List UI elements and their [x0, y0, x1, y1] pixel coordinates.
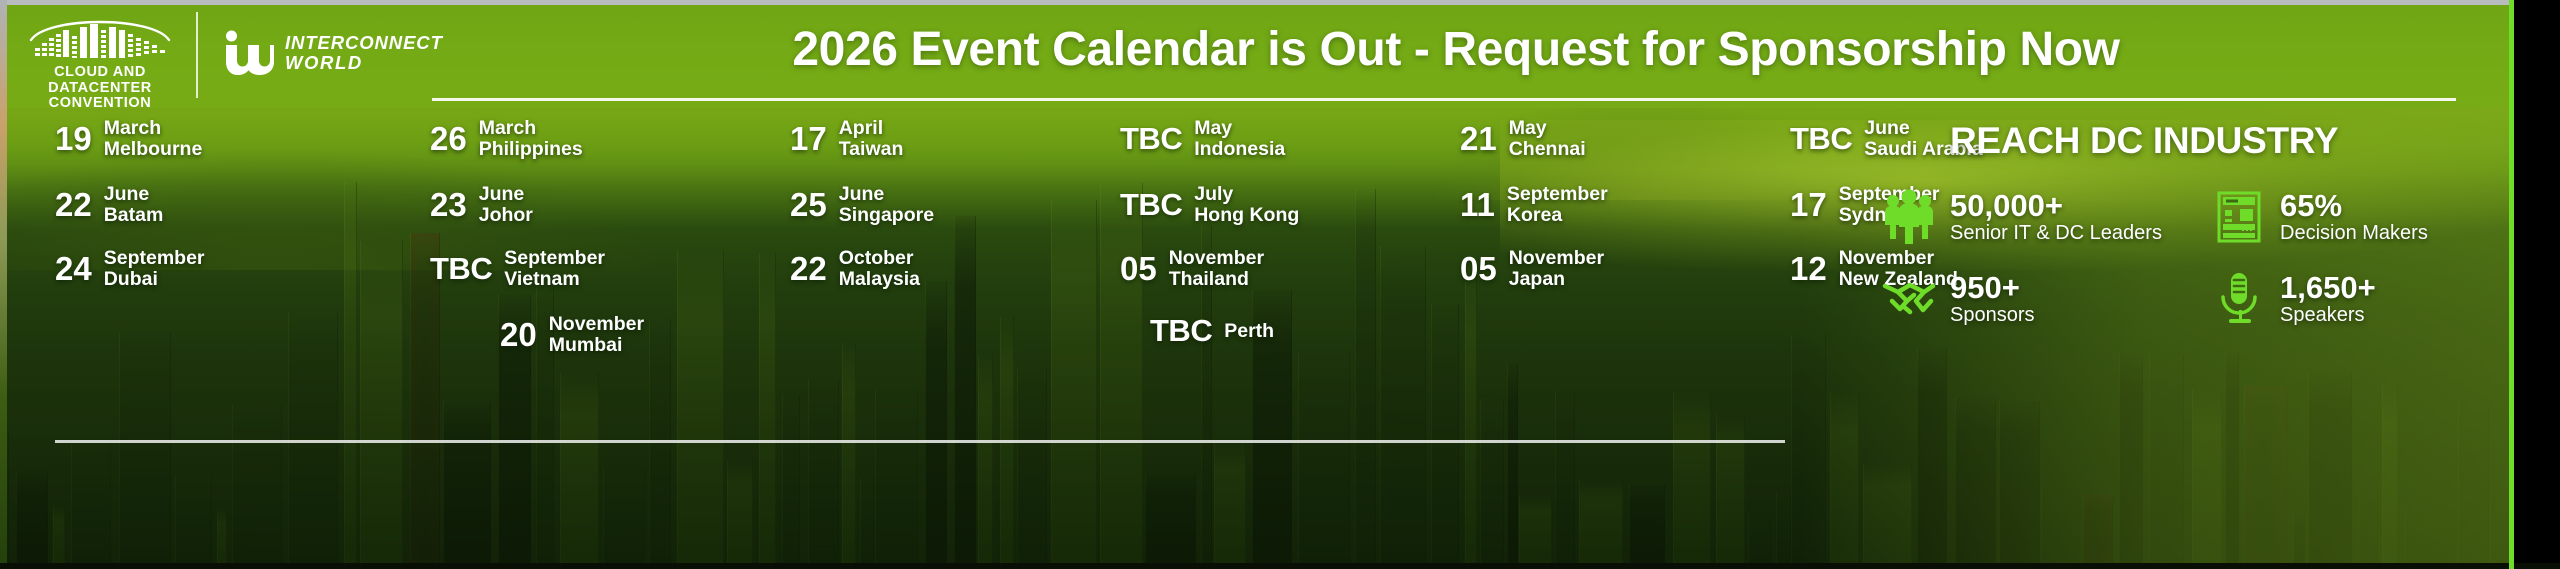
events-bottom-rule: [55, 440, 1785, 443]
event-day: 25: [790, 188, 827, 222]
event-entry[interactable]: 05NovemberThailand: [1120, 248, 1264, 290]
event-city: Taiwan: [839, 139, 904, 160]
stat-label: Sponsors: [1950, 304, 2035, 327]
stat-item: 1,650+Speakers: [2210, 270, 2376, 328]
cloud-datacenter-convention-logo[interactable]: CLOUD AND DATACENTER CONVENTION: [20, 14, 180, 112]
event-city: Chennai: [1509, 139, 1586, 160]
event-month: June: [104, 184, 164, 205]
title-underline-rule: [432, 98, 2456, 101]
frame-edge-right: [2514, 0, 2560, 569]
event-entry[interactable]: 22OctoberMalaysia: [790, 248, 920, 290]
reach-stats-panel: REACH DC INDUSTRY 50,000+Senior IT & DC …: [1880, 120, 2520, 520]
iw-monogram-icon: [222, 30, 274, 76]
stat-value: 950+: [1950, 271, 2035, 304]
stat-value: 65%: [2280, 189, 2428, 222]
event-city: Mumbai: [549, 335, 644, 356]
event-month-city: OctoberMalaysia: [839, 248, 920, 290]
stats-panel-title: REACH DC INDUSTRY: [1950, 120, 2520, 162]
event-day: TBC: [1120, 188, 1182, 222]
cloud-datacenter-skyline-icon: [27, 14, 173, 62]
event-day: TBC: [1120, 122, 1182, 156]
frame-accent-stripe: [2509, 0, 2514, 569]
event-month-city: AprilTaiwan: [839, 118, 904, 160]
event-month: May: [1194, 118, 1285, 139]
stat-value: 50,000+: [1950, 189, 2162, 222]
event-entry[interactable]: 24SeptemberDubai: [55, 248, 205, 290]
event-city: Indonesia: [1194, 139, 1285, 160]
event-month: September: [1507, 184, 1608, 205]
event-month-city: MarchPhilippines: [479, 118, 583, 160]
event-month-city: MayChennai: [1509, 118, 1586, 160]
event-month: November: [1169, 248, 1264, 269]
event-month-city: MayIndonesia: [1194, 118, 1285, 160]
microphone-icon: [2210, 270, 2268, 328]
event-day: 23: [430, 188, 467, 222]
event-day: 17: [1790, 188, 1827, 222]
stat-label: Speakers: [2280, 304, 2376, 327]
event-entry[interactable]: TBCMayIndonesia: [1120, 118, 1285, 160]
event-day: 05: [1460, 252, 1497, 286]
event-entry[interactable]: 21MayChennai: [1460, 118, 1586, 160]
event-city: Johor: [479, 205, 533, 226]
event-city: Melbourne: [104, 139, 203, 160]
event-entry[interactable]: TBCSeptemberVietnam: [430, 248, 605, 290]
event-month-city: MarchMelbourne: [104, 118, 203, 160]
event-month: June: [479, 184, 533, 205]
event-entry[interactable]: 19MarchMelbourne: [55, 118, 202, 160]
event-entry[interactable]: 23JuneJohor: [430, 184, 533, 226]
event-month: September: [504, 248, 605, 269]
stat-label: Senior IT & DC Leaders: [1950, 222, 2162, 245]
event-month: November: [1509, 248, 1604, 269]
event-month-city: NovemberMumbai: [549, 314, 644, 356]
people-group-icon: [1880, 188, 1938, 246]
event-day: 12: [1790, 252, 1827, 286]
event-month-city: JuneJohor: [479, 184, 533, 226]
event-month: March: [479, 118, 583, 139]
event-city: Japan: [1509, 269, 1604, 290]
event-entry[interactable]: 25JuneSingapore: [790, 184, 934, 226]
event-month: March: [104, 118, 203, 139]
event-day: 22: [55, 188, 92, 222]
banner-header: CLOUD AND DATACENTER CONVENTION INTERCON…: [0, 0, 2560, 108]
event-calendar-banner: CLOUD AND DATACENTER CONVENTION INTERCON…: [0, 0, 2560, 569]
event-entry[interactable]: TBCJulyHong Kong: [1120, 184, 1299, 226]
event-day: 21: [1460, 122, 1497, 156]
frame-edge-left: [0, 0, 7, 569]
event-month-city: JulyHong Kong: [1194, 184, 1299, 226]
iw-logo-line-1: INTERCONNECT: [285, 33, 443, 53]
event-month: May: [1509, 118, 1586, 139]
server-rack-icon: [2210, 188, 2268, 246]
event-day: 05: [1120, 252, 1157, 286]
stat-label: Decision Makers: [2280, 222, 2428, 245]
event-city: Vietnam: [504, 269, 605, 290]
logo-divider: [196, 12, 198, 98]
event-month-city: SeptemberKorea: [1507, 184, 1608, 226]
event-city: Korea: [1507, 205, 1608, 226]
cdc-logo-line-1: CLOUD AND: [20, 65, 180, 81]
stat-item: 65%Decision Makers: [2210, 188, 2428, 246]
event-city: Dubai: [104, 269, 205, 290]
event-city: Philippines: [479, 139, 583, 160]
event-month-city: NovemberJapan: [1509, 248, 1604, 290]
event-month-city: JuneBatam: [104, 184, 164, 226]
event-city: Thailand: [1169, 269, 1264, 290]
handshake-icon: [1880, 270, 1938, 328]
event-day: 22: [790, 252, 827, 286]
event-month: April: [839, 118, 904, 139]
event-city: Malaysia: [839, 269, 920, 290]
event-entry[interactable]: 05NovemberJapan: [1460, 248, 1604, 290]
event-month: June: [839, 184, 934, 205]
cdc-logo-line-2: DATACENTER: [20, 81, 180, 97]
event-day: TBC: [430, 252, 492, 286]
frame-edge-bottom: [0, 563, 2560, 569]
event-entry[interactable]: 11SeptemberKorea: [1460, 184, 1608, 226]
event-month-city: SeptemberDubai: [104, 248, 205, 290]
event-city: Hong Kong: [1194, 205, 1299, 226]
event-day: TBC: [1150, 314, 1212, 348]
event-month: October: [839, 248, 920, 269]
event-day: 20: [500, 318, 537, 352]
event-month: November: [549, 314, 644, 335]
frame-edge-top: [0, 0, 2560, 5]
interconnect-world-logo[interactable]: INTERCONNECT WORLD: [222, 30, 443, 76]
event-entry[interactable]: 20NovemberMumbai: [500, 314, 644, 356]
page-title: 2026 Event Calendar is Out - Request for…: [432, 22, 2480, 78]
event-day: 26: [430, 122, 467, 156]
event-month-city: SeptemberVietnam: [504, 248, 605, 290]
event-calendar-grid: 19MarchMelbourne26MarchPhilippines17Apri…: [0, 118, 1830, 518]
event-day: 24: [55, 252, 92, 286]
cdc-logo-line-3: CONVENTION: [20, 96, 180, 112]
event-day: 11: [1460, 188, 1495, 222]
event-day: 17: [790, 122, 827, 156]
event-entry[interactable]: 17AprilTaiwan: [790, 118, 903, 160]
event-month: July: [1194, 184, 1299, 205]
event-city: Batam: [104, 205, 164, 226]
event-month-city: JuneSingapore: [839, 184, 934, 226]
event-entry[interactable]: 22JuneBatam: [55, 184, 163, 226]
stat-item: 50,000+Senior IT & DC Leaders: [1880, 188, 2162, 246]
event-day: TBC: [1790, 122, 1852, 156]
event-city: Perth: [1224, 320, 1274, 343]
stat-value: 1,650+: [2280, 271, 2376, 304]
event-month: September: [104, 248, 205, 269]
event-month-city: NovemberThailand: [1169, 248, 1264, 290]
event-city: Singapore: [839, 205, 934, 226]
event-entry[interactable]: 26MarchPhilippines: [430, 118, 583, 160]
iw-logo-line-2: WORLD: [285, 53, 443, 73]
event-entry[interactable]: TBCPerth: [1150, 314, 1274, 348]
stat-item: 950+Sponsors: [1880, 270, 2035, 328]
event-day: 19: [55, 122, 92, 156]
